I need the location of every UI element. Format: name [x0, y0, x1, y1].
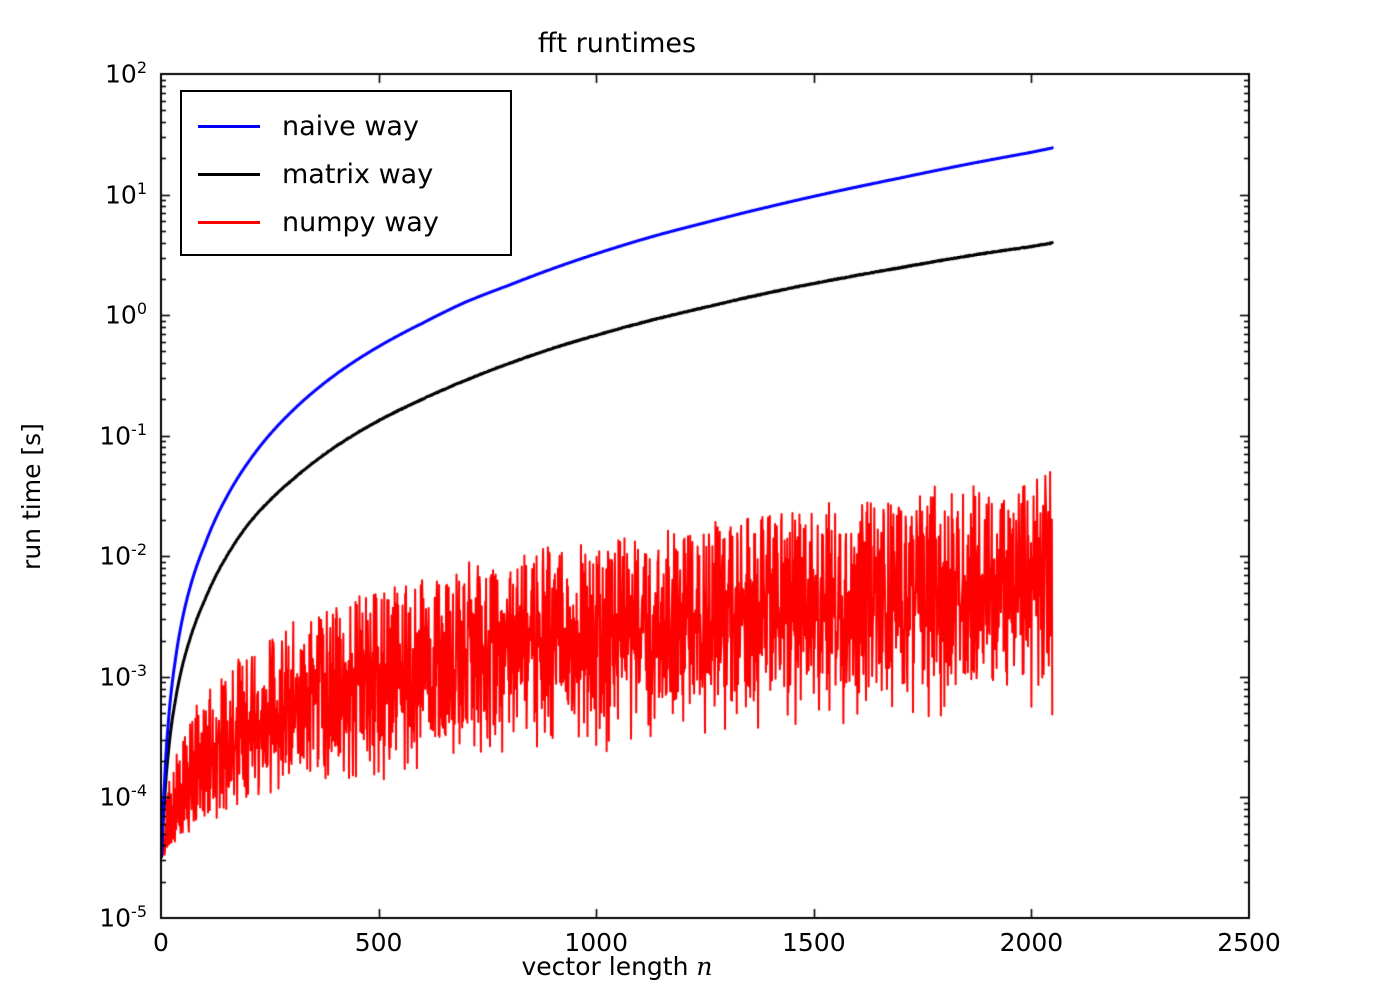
chart-title: fft runtimes: [0, 30, 1305, 57]
x-tick-label: 2500: [1217, 928, 1281, 957]
y-tick-label: 10-3: [0, 662, 147, 691]
x-tick-label: 500: [355, 928, 403, 957]
legend-label: matrix way: [282, 159, 433, 190]
y-tick-label: 100: [0, 301, 147, 330]
legend-item-numpy[interactable]: numpy way: [182, 200, 510, 244]
chart-legend[interactable]: naive waymatrix waynumpy way: [180, 90, 512, 256]
legend-label: naive way: [282, 111, 419, 142]
y-axis-label: run time [s]: [14, 0, 48, 995]
y-tick-label: 101: [0, 180, 147, 209]
legend-item-matrix[interactable]: matrix way: [182, 152, 510, 196]
y-tick-label: 102: [0, 60, 147, 89]
x-tick-label: 2000: [1000, 928, 1064, 957]
x-tick-label: 1000: [564, 928, 628, 957]
y-tick-label: 10-4: [0, 783, 147, 812]
y-tick-label: 10-1: [0, 421, 147, 450]
legend-line-swatch: [198, 173, 260, 176]
y-tick-label: 10-5: [0, 904, 147, 933]
matplotlib-figure: fft runtimes vector length n run time [s…: [0, 0, 1376, 995]
legend-item-naive[interactable]: naive way: [182, 104, 510, 148]
x-axis-label-math: n: [696, 952, 712, 981]
x-tick-label: 0: [153, 928, 169, 957]
legend-label: numpy way: [282, 207, 439, 238]
y-tick-label: 10-2: [0, 542, 147, 571]
legend-line-swatch: [198, 125, 260, 128]
x-axis-label: vector length n: [0, 952, 1305, 981]
x-tick-label: 1500: [782, 928, 846, 957]
legend-line-swatch: [198, 221, 260, 224]
